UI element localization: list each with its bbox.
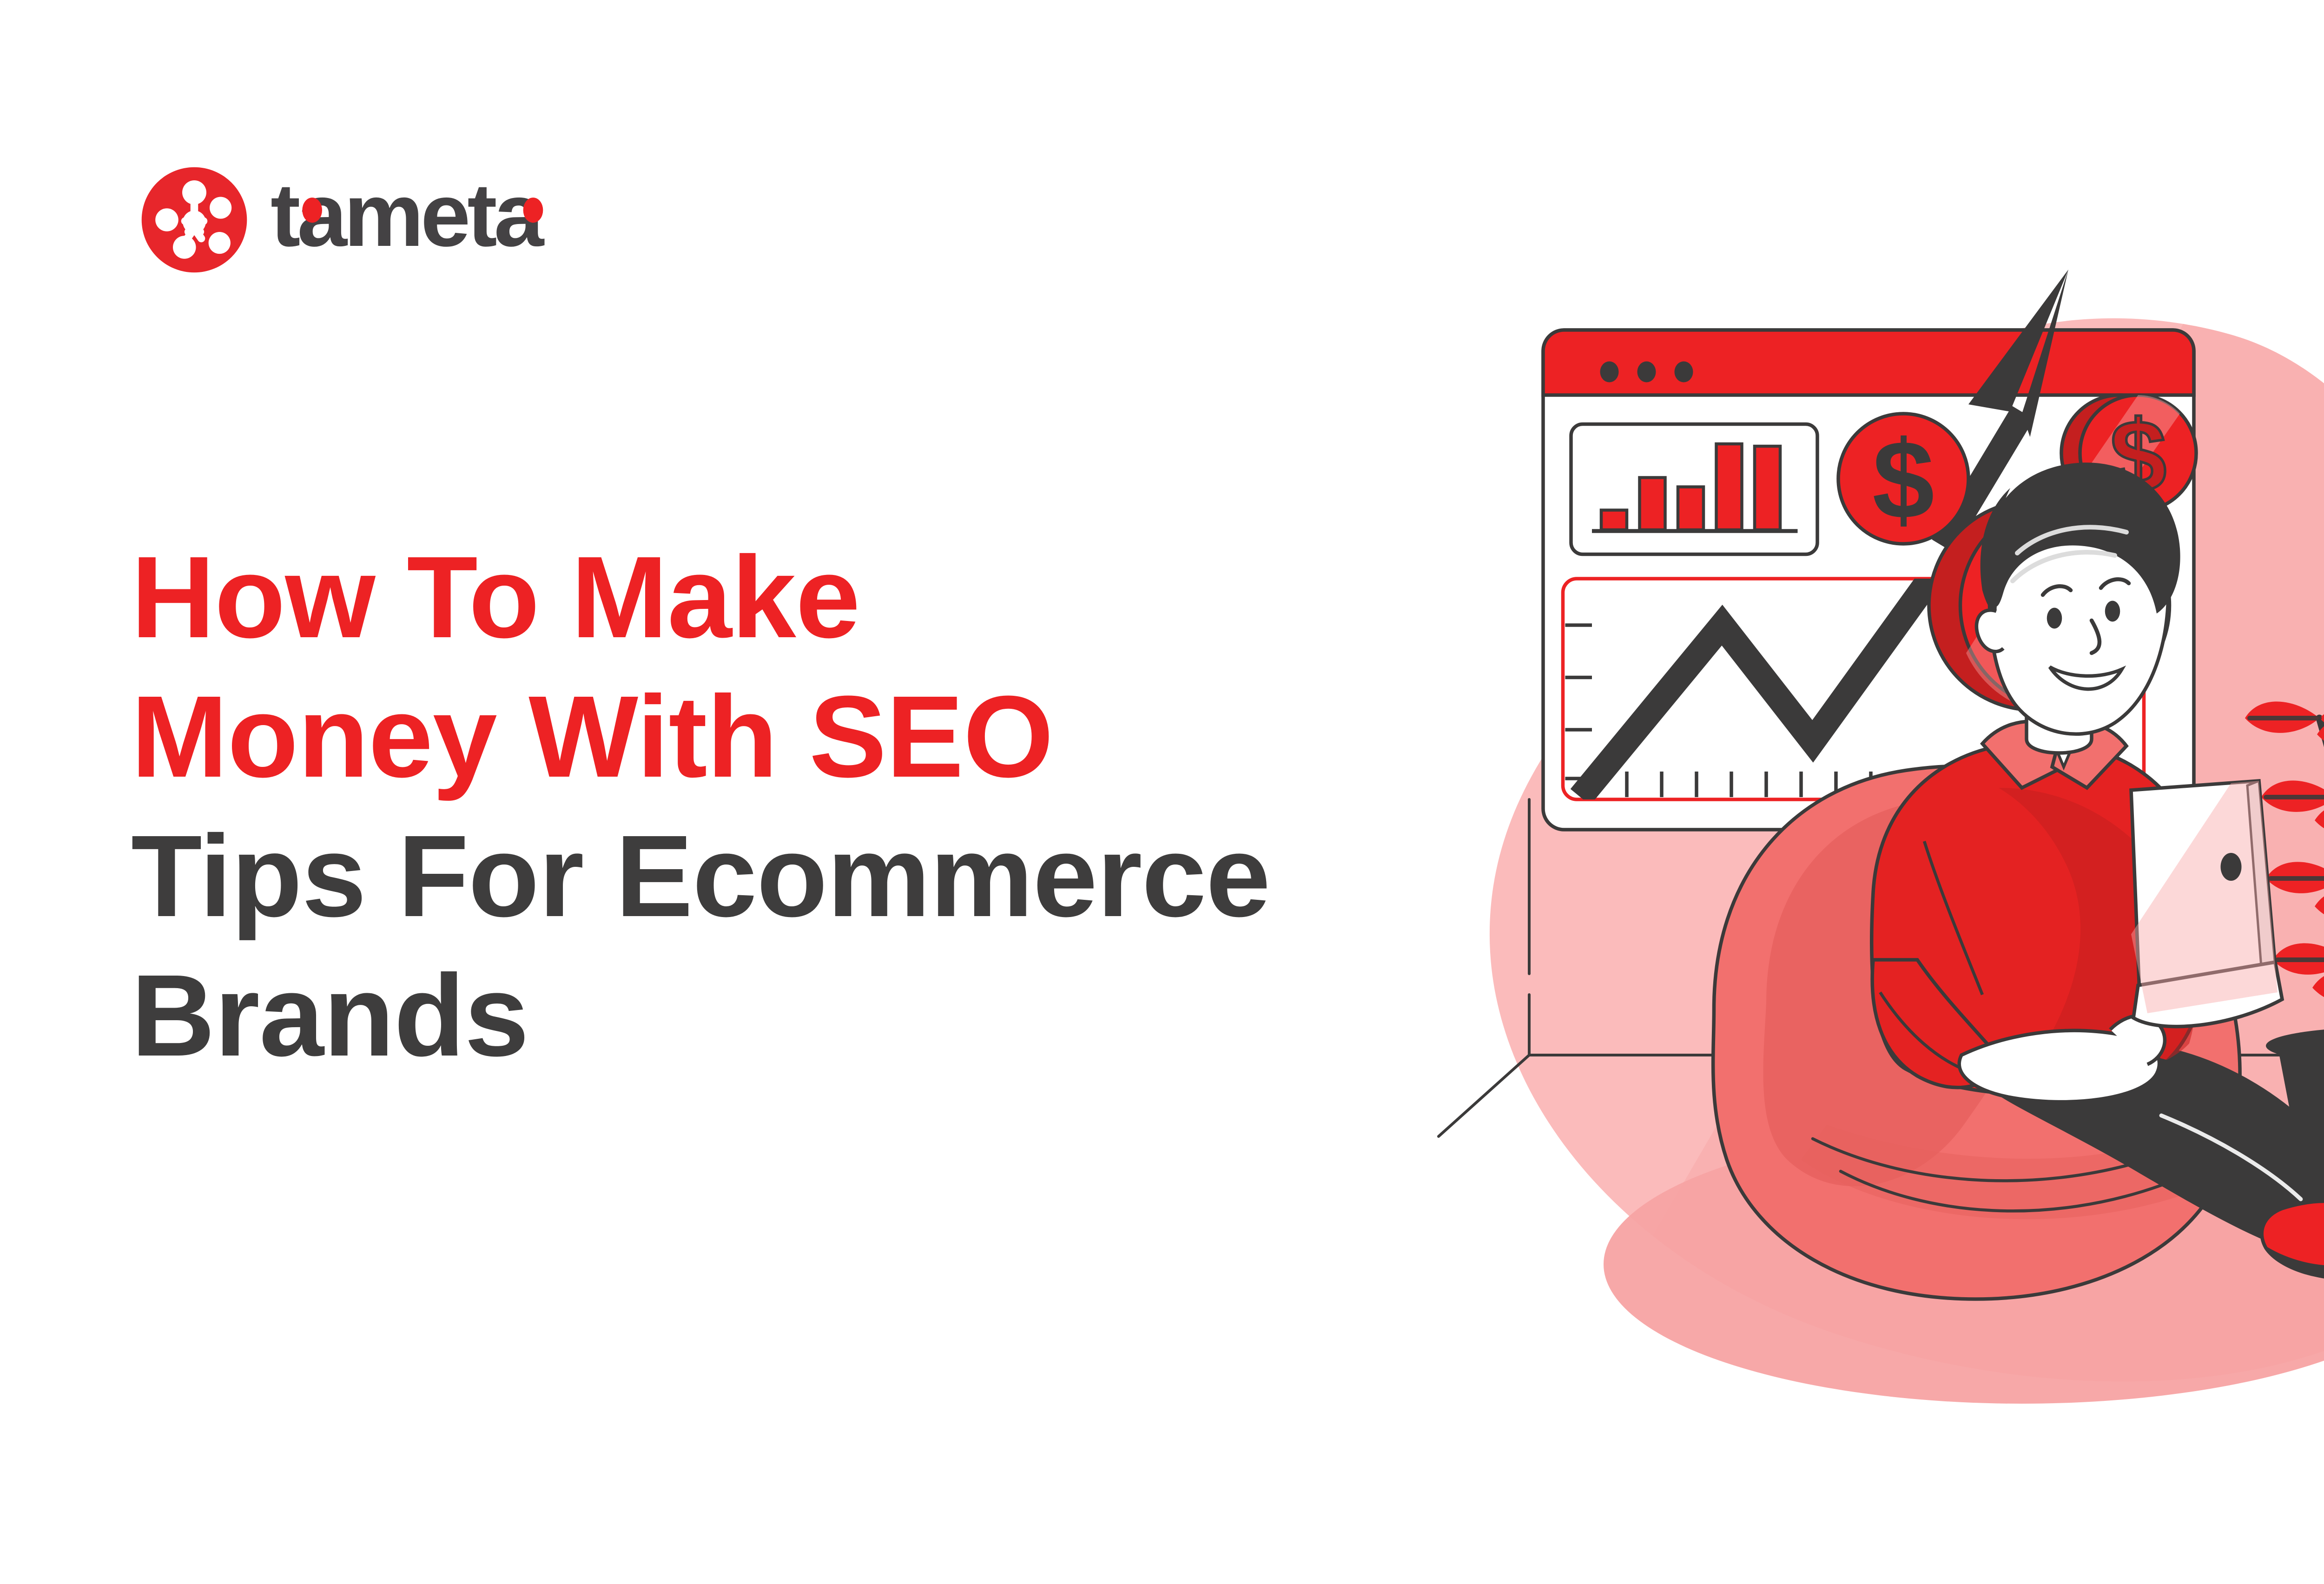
page-title: How To Make Money With SEO Tips For Ecom…: [131, 528, 1340, 1085]
svg-text:$: $: [1872, 417, 1934, 542]
headline-line-2: Money With SEO: [131, 667, 1340, 806]
headline-line-1: How To Make: [131, 528, 1340, 667]
eye-left: [2047, 608, 2062, 629]
window-dot-2: [1637, 362, 1656, 383]
tameta-molecule-logo-icon: [139, 165, 249, 275]
window-control-dots[interactable]: [1600, 362, 1693, 383]
hero-illustration: $ $ $: [1418, 242, 2324, 1469]
window-dot-1: [1600, 362, 1619, 383]
headline-line-3: Tips For Ecommerce: [131, 806, 1340, 946]
banner-canvas: tameta How To Make Money With SEO Tips F…: [0, 0, 2324, 1584]
brand-logo[interactable]: tameta: [139, 165, 627, 275]
headline-line-4: Brands: [131, 946, 1340, 1085]
window-dot-3: [1675, 362, 1693, 383]
window-titlebar: [1543, 330, 2194, 395]
laptop-camera-dot: [2221, 853, 2242, 881]
eye-right: [2105, 601, 2120, 622]
laptop[interactable]: [2131, 781, 2282, 1027]
bar-chart-panel[interactable]: [1571, 424, 1817, 554]
coin-flat-icon: $: [1838, 414, 1968, 544]
tameta-wordmark: tameta: [271, 177, 627, 263]
